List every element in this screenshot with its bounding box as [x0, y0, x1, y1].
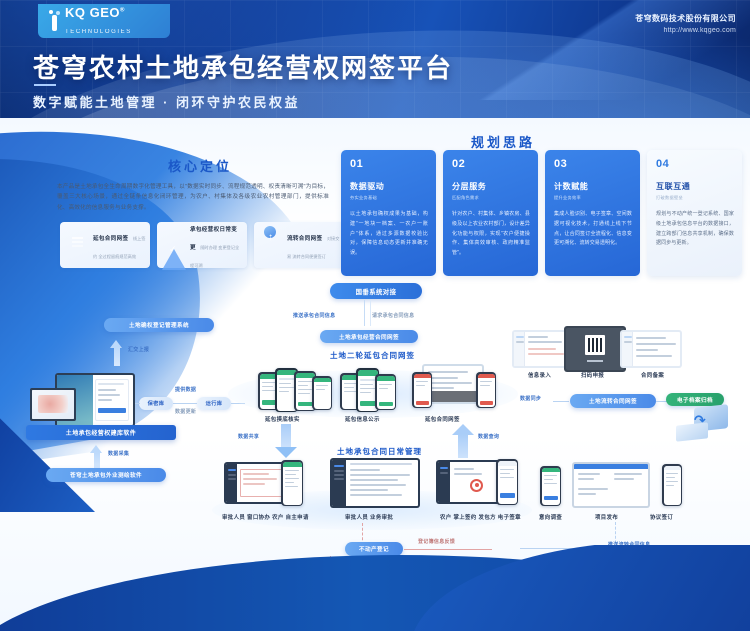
plan-card-desc: 以土地承包确权成果为基础，构建"一地块一档案、一农户一账户"体系，通过多源数据校… — [350, 210, 428, 259]
footer-decoration — [0, 545, 750, 631]
label-data-update: 数据更新 — [175, 408, 196, 415]
caption-business-approval: 审批人员 业务审批 — [345, 513, 393, 521]
plan-card-list: 01 数据驱动 夯实业务基础 以土地承包确权成果为基础，构建"一地块一档案、一农… — [341, 150, 742, 276]
connector-monitor-to-db — [135, 403, 140, 404]
plan-card-desc: 规划与不动产统一登记系统、国家级土地承包信息平台的数据接口，建立跨部门信息共享机… — [656, 210, 734, 249]
logo-name: KQ GEO® — [65, 5, 125, 20]
arrow-up-data-query — [452, 424, 474, 458]
label-submit-report: 汇交上报 — [128, 346, 149, 353]
connector-badge-down — [364, 300, 365, 326]
core-section-title: 核心定位 — [140, 156, 260, 175]
heading-daily-contract-management: 土地承包合同日常管理 — [337, 446, 422, 457]
label-push-contract-info: 推送承包合同信息 — [293, 312, 335, 319]
caption-agreement-signing: 协议签订 — [650, 513, 673, 521]
bar-database-build-software[interactable]: 土地承包经营权建库软件 — [26, 425, 176, 440]
plan-card-title: 互联互通 — [656, 181, 734, 192]
caption-window-service: 审批人员 窗口协办 农户 自主申请 — [222, 513, 309, 521]
core-description: 本产品是土地承包全生命周期数字化管理工具，以"数据实时同步、流程规范透明、权责清… — [57, 182, 329, 213]
connector-badge-up — [370, 300, 371, 326]
plan-card-desc: 针对农户、村集体、乡镇农房、县级及以上农业农村部门，设计差异化功能与权限，实现"… — [452, 210, 530, 259]
label-registration-feedback: 登记簿信息反馈 — [418, 538, 455, 545]
plan-card-number: 02 — [452, 158, 530, 170]
core-card-daily-change[interactable]: 承包经营权日常变更 随时办理 变更登记全程可溯 — [157, 222, 247, 268]
check-triangle-icon — [162, 232, 186, 258]
caption-contract-signing: 延包合同网签 — [425, 415, 460, 423]
plan-card-01[interactable]: 01 数据驱动 夯实业务基础 以土地承包确权成果为基础，构建"一地块一档案、一农… — [341, 150, 436, 276]
logo-registered-icon: ® — [120, 8, 125, 14]
caption-electronic-seal: 农户 掌上签约 发包方 电子签章 — [440, 513, 521, 521]
label-provide-data: 提供数据 — [175, 386, 196, 393]
plan-card-03[interactable]: 03 计数赋能 提升业务效率 集成人脸识别、电子签章、空间数据可视化技术，打通线… — [545, 150, 640, 276]
caption-public-notice: 延包信息公示 — [345, 415, 380, 423]
plan-card-number: 04 — [656, 158, 734, 170]
pill-contract-online-signing[interactable]: 土地承包经营合同网签 — [320, 330, 418, 343]
pill-land-rights-registration-system[interactable]: 土地确权登记管理系统 — [104, 318, 214, 332]
db-runtime-library[interactable]: 运行库 — [197, 397, 231, 410]
arrow-down-data-sharing — [275, 424, 297, 458]
poster-page: KQ GEO® TECHNOLOGIES 苍穹数码技术股份有限公司 http:/… — [0, 0, 750, 631]
heading-second-round-contract: 土地二轮延包合同网签 — [330, 350, 415, 361]
caption-info-entry: 信息录入 — [528, 371, 551, 379]
plan-card-04[interactable]: 04 互联互通 打破数据壁垒 规划与不动产统一登记系统、国家级土地承包信息平台的… — [647, 150, 742, 276]
label-data-sharing: 数据共享 — [238, 433, 259, 440]
plan-card-subtitle: 匹配角色需求 — [452, 195, 530, 201]
cloud-upload-icon — [259, 232, 283, 258]
pill-field-survey-software[interactable]: 苍穹土地承包外业测绘软件 — [46, 468, 166, 482]
badge-electronic-archive[interactable]: 电子档案归档 — [666, 393, 724, 406]
connector-db-link — [173, 403, 197, 404]
archive-device-illustration: ↷ — [676, 406, 728, 440]
plan-card-title: 计数赋能 — [554, 181, 632, 192]
core-card-title: 流转合同网签 — [287, 236, 322, 242]
laptop-mock — [30, 388, 76, 421]
plan-card-subtitle: 打破数据壁垒 — [656, 195, 734, 201]
plan-card-subtitle: 提升业务效率 — [554, 195, 632, 201]
title-divider — [34, 84, 56, 86]
plan-card-number: 01 — [350, 158, 428, 170]
book-icon — [65, 232, 89, 258]
company-url: http://www.kqgeo.com — [635, 27, 736, 34]
plan-card-desc: 集成人脸识别、电子签章、空间数据可视化技术，打通线上线下节点，让合同签订全流程化… — [554, 210, 632, 249]
label-data-collect: 数据采集 — [108, 450, 129, 457]
label-data-sync: 数据同步 — [520, 395, 541, 402]
connector-sync-line — [553, 401, 569, 402]
company-name: 苍穹数码技术股份有限公司 — [635, 13, 736, 24]
core-card-transfer-signing[interactable]: 流转合同网签 对接交易 流转合同便捷签订 — [254, 222, 344, 268]
plan-section-title: 规划思路 — [438, 132, 568, 151]
core-card-title: 延包合同网签 — [93, 236, 128, 242]
core-card-subtitle: 随时办理 变更登记全程可溯 — [190, 245, 239, 268]
badge-national-system[interactable]: 国垂系统对接 — [330, 283, 422, 299]
plan-card-number: 03 — [554, 158, 632, 170]
plan-card-title: 分层服务 — [452, 181, 530, 192]
caption-intention-survey: 意向调查 — [539, 513, 562, 521]
caption-project-release: 项目发布 — [595, 513, 618, 521]
db-secure-library[interactable]: 保密库 — [139, 397, 173, 410]
page-title: 苍穹农村土地承包经营权网签平台 — [33, 48, 453, 85]
page-subtitle: 数字赋能土地管理 · 闭环守护农民权益 — [33, 92, 300, 111]
brand-logo: KQ GEO® TECHNOLOGIES — [38, 4, 170, 38]
plan-card-02[interactable]: 02 分层服务 匹配角色需求 针对农户、村集体、乡镇农房、县级及以上农业农村部门… — [443, 150, 538, 276]
core-card-contract-signing[interactable]: 延包合同网签 线上签约 全过程留痕规范高效 — [60, 222, 150, 268]
plan-card-subtitle: 夯实业务基础 — [350, 195, 428, 201]
arrow-up-report — [110, 340, 123, 366]
plan-card-title: 数据驱动 — [350, 181, 428, 192]
caption-contract-filing: 合同备案 — [641, 371, 664, 379]
logo-mark-icon — [49, 10, 60, 32]
core-card-list: 延包合同网签 线上签约 全过程留痕规范高效 承包经营权日常变更 随时办理 变更登… — [60, 222, 345, 268]
pill-transfer-contract-signing[interactable]: 土地流转合同网签 — [570, 394, 656, 408]
page-header: KQ GEO® TECHNOLOGIES 苍穹数码技术股份有限公司 http:/… — [0, 0, 750, 132]
label-data-query: 数据查询 — [478, 433, 499, 440]
caption-survey-verification: 延包摸底核实 — [265, 415, 300, 423]
caption-scan-declare: 扫码申报 — [581, 371, 604, 379]
company-info: 苍穹数码技术股份有限公司 http://www.kqgeo.com — [635, 13, 736, 34]
logo-subtitle: TECHNOLOGIES — [65, 29, 132, 35]
label-request-contract-info: 请求承包合同信息 — [372, 312, 414, 319]
